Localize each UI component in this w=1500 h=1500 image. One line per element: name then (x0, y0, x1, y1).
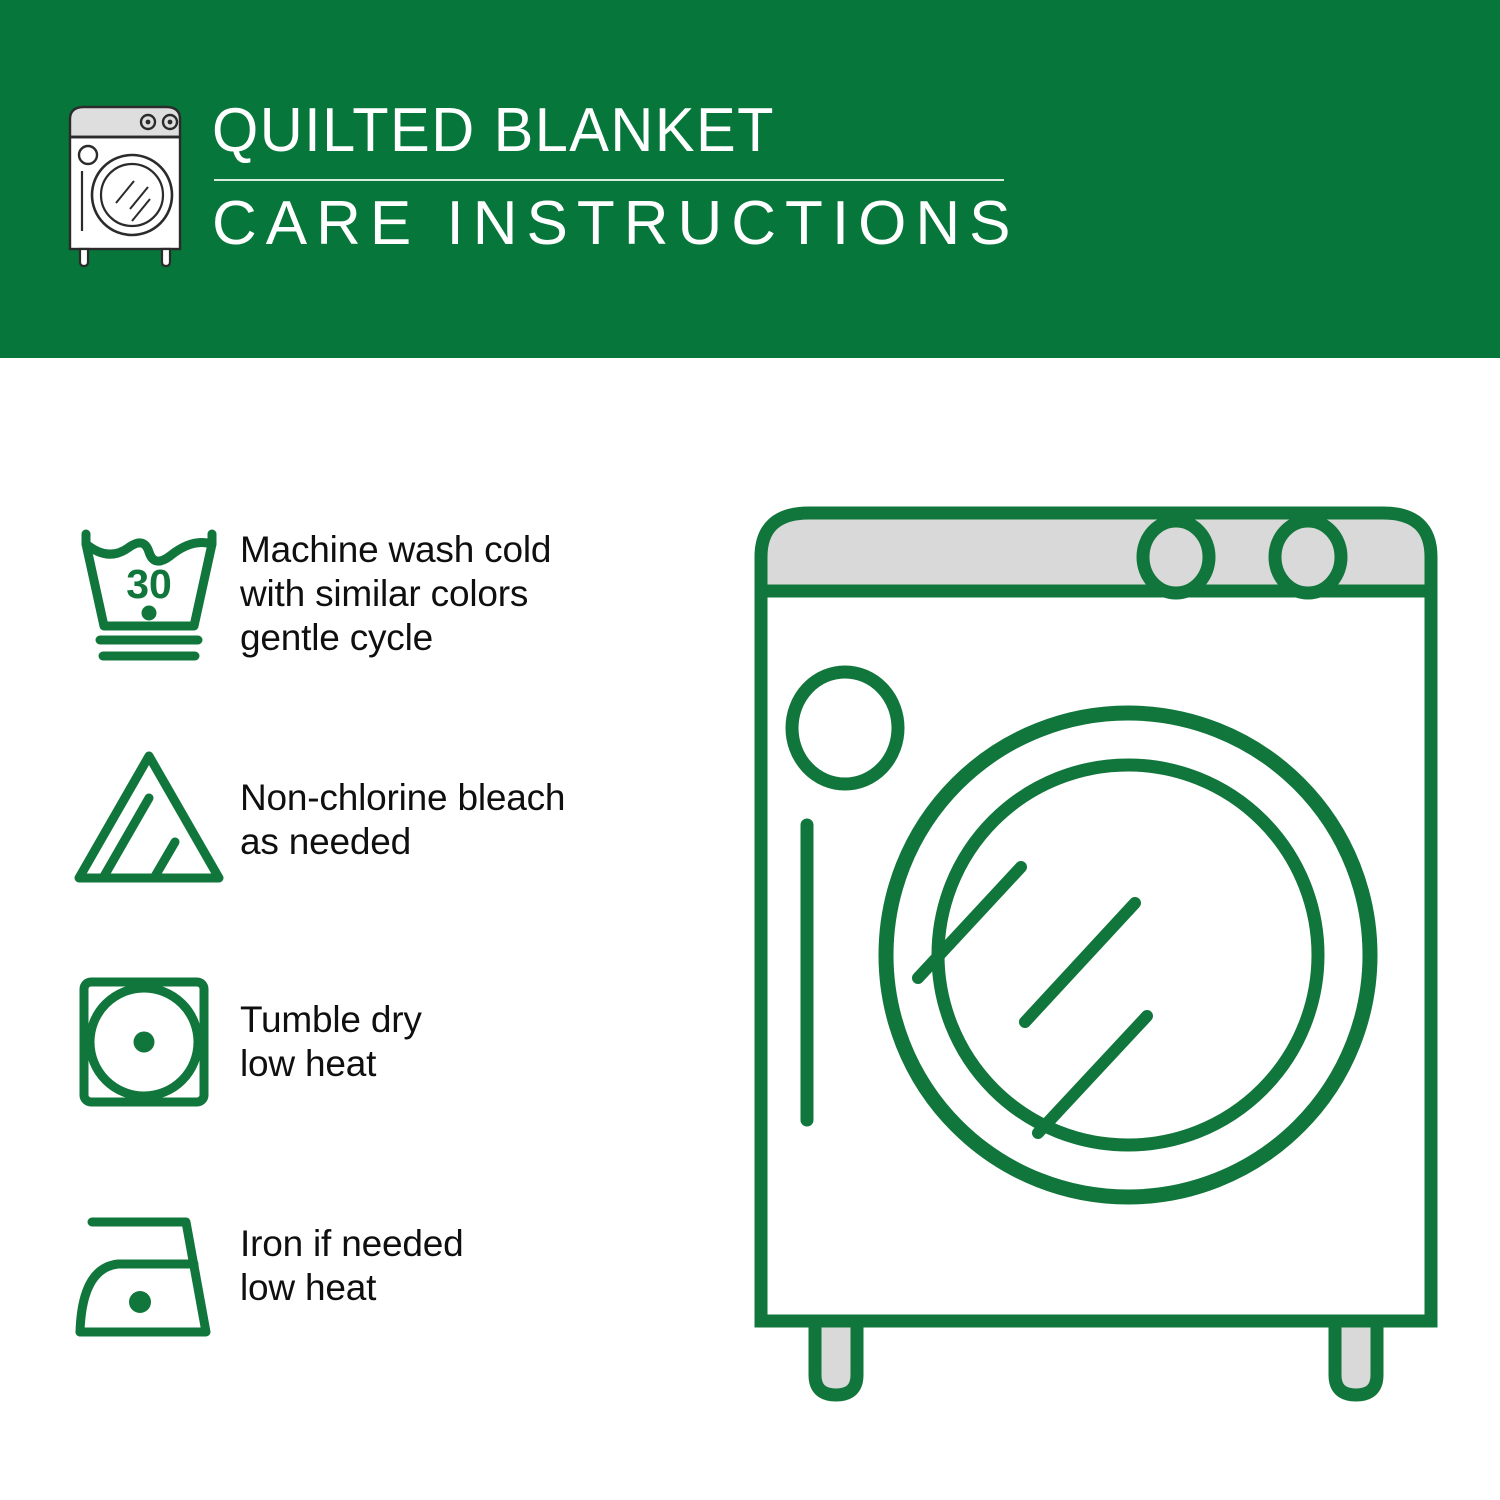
control-knob-right (1275, 521, 1341, 593)
instruction-line: gentle cycle (240, 616, 710, 660)
list-item: Tumble dry low heat (70, 956, 710, 1184)
page-title: QUILTED BLANKET (212, 95, 987, 167)
instruction-text: Machine wash cold with similar colors ge… (240, 500, 710, 660)
header-content: QUILTED BLANKET CARE INSTRUCTIONS (62, 95, 1019, 269)
instruction-text: Iron if needed low heat (240, 1184, 710, 1310)
instruction-line: Non-chlorine bleach (240, 776, 710, 820)
instruction-line: Tumble dry (240, 998, 710, 1042)
wash-tub-30-gentle-icon: 30 (70, 500, 240, 672)
instruction-line: Machine wash cold (240, 528, 710, 572)
instruction-line: Iron if needed (240, 1222, 710, 1266)
list-item: Iron if needed low heat (70, 1184, 710, 1412)
control-knob-left (1143, 521, 1209, 593)
instruction-line: low heat (240, 1042, 710, 1086)
leg-left (815, 1321, 857, 1395)
washing-machine-illustration (735, 495, 1465, 1410)
iron-low-heat-icon (70, 1184, 240, 1356)
list-item: 30 Machine wash cold with similar colors… (70, 500, 710, 728)
tumble-dry-low-heat-icon (70, 956, 240, 1118)
header-band: QUILTED BLANKET CARE INSTRUCTIONS (0, 0, 1500, 358)
svg-text:30: 30 (126, 561, 172, 607)
instruction-line: low heat (240, 1266, 710, 1310)
instruction-text: Non-chlorine bleach as needed (240, 728, 710, 864)
instruction-line: with similar colors (240, 572, 710, 616)
leg-right (1335, 1321, 1377, 1395)
header-title-group: QUILTED BLANKET CARE INSTRUCTIONS (212, 95, 1019, 257)
care-instruction-list: 30 Machine wash cold with similar colors… (70, 500, 710, 1412)
detergent-port (792, 672, 898, 784)
page-subtitle: CARE INSTRUCTIONS (212, 191, 1019, 257)
non-chlorine-bleach-triangle-icon (70, 728, 240, 896)
title-divider (214, 179, 1004, 181)
instruction-text: Tumble dry low heat (240, 956, 710, 1086)
list-item: Non-chlorine bleach as needed (70, 728, 710, 956)
door-inner-ring (938, 765, 1318, 1145)
washing-machine-icon (62, 99, 192, 269)
instruction-line: as needed (240, 820, 710, 864)
